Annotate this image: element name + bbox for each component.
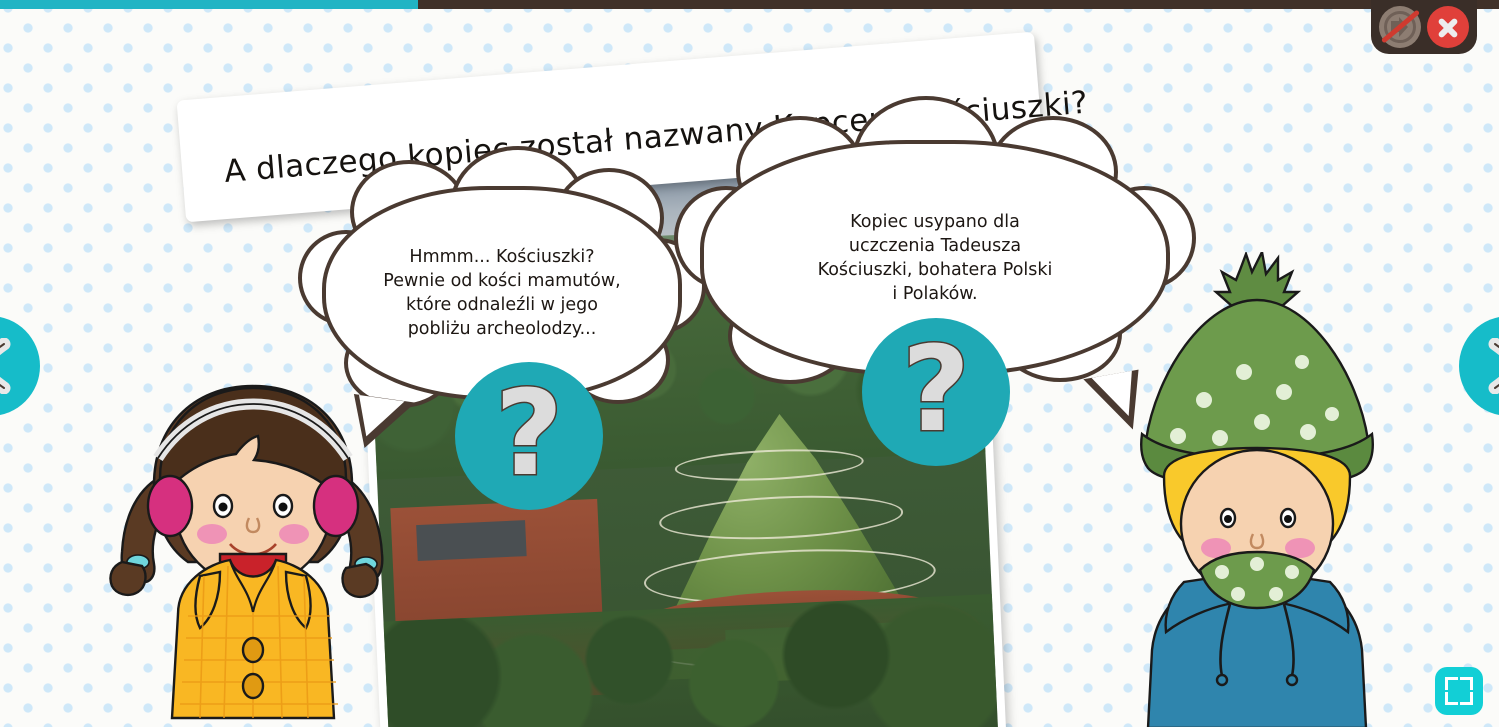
close-button[interactable]	[1427, 6, 1469, 48]
question-mark-icon: ?	[495, 374, 563, 492]
photo-roof	[416, 520, 527, 560]
bubble-text: Hmmm... Kościuszki? Pewnie od kości mamu…	[357, 245, 646, 342]
bubble-text: Kopiec usypano dla uczczenia Tadeusza Ko…	[792, 210, 1079, 307]
bubble-line: Pewnie od kości mamutów,	[383, 269, 620, 293]
bubble-line: Kościuszki, bohatera Polski	[818, 258, 1053, 282]
top-control-bar	[1371, 0, 1477, 54]
question-mark-icon: ?	[902, 330, 970, 448]
bubble-line: Kopiec usypano dla	[818, 210, 1053, 234]
bubble-tail-fill	[353, 395, 404, 441]
photo-mound-path	[658, 491, 903, 543]
lesson-progress-bar	[0, 0, 1499, 9]
bubble-line: które odnaleźli w jego	[383, 293, 620, 317]
bubble-line: i Polaków.	[818, 282, 1053, 306]
bubble-line: pobliżu archeolodzy...	[383, 317, 620, 341]
bubble-tail-fill	[1091, 371, 1139, 421]
question-badge-left[interactable]: ?	[455, 362, 603, 510]
bubble-line: Hmmm... Kościuszki?	[383, 245, 620, 269]
fullscreen-icon	[1460, 677, 1473, 690]
fullscreen-icon	[1460, 692, 1473, 705]
fullscreen-icon	[1445, 692, 1458, 705]
sound-off-button[interactable]	[1379, 6, 1421, 48]
lesson-progress-fill	[0, 0, 418, 9]
question-badge-right[interactable]: ?	[862, 318, 1010, 466]
fullscreen-icon	[1445, 677, 1458, 690]
chevron-left-icon	[0, 338, 14, 394]
bubble-line: uczczenia Tadeusza	[818, 234, 1053, 258]
fullscreen-button[interactable]	[1435, 667, 1483, 715]
chevron-right-icon	[1485, 338, 1499, 394]
